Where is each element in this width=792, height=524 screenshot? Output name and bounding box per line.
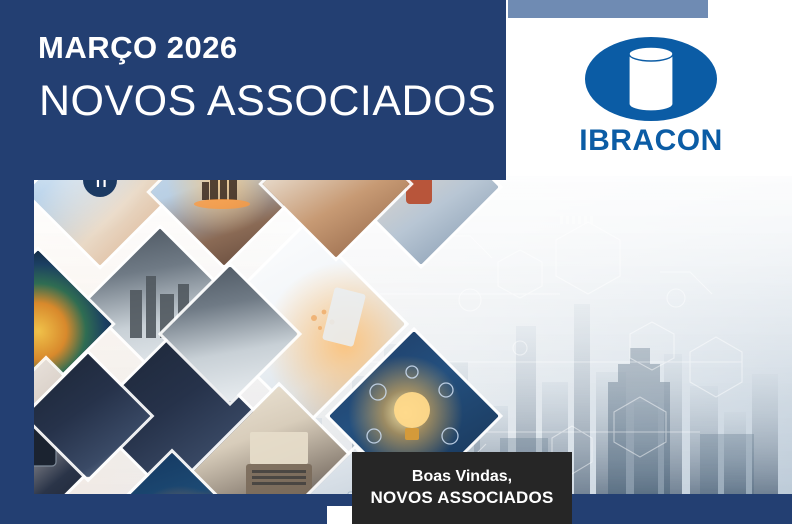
month-label: MARÇO 2026 [38,32,238,63]
page-title: NOVOS ASSOCIADOS [39,80,496,123]
caption-line-2: NOVOS ASSOCIADOS [371,487,554,508]
caption-line-1: Boas Vindas, [412,467,512,487]
ibracon-cylinder-in-ellipse-icon: IBRACON [566,32,736,157]
ibracon-logo[interactable]: IBRACON [566,32,736,157]
welcome-caption-box: Boas Vindas, NOVOS ASSOCIADOS [352,452,572,524]
diamond-tile-grid: TI [0,176,792,498]
accent-bar [508,0,708,18]
poster-canvas: TI [0,0,792,524]
ibracon-wordmark: IBRACON [579,124,723,157]
footer-notch [327,506,353,524]
photo-collage: TI [0,176,792,498]
left-side-rail [0,180,34,524]
